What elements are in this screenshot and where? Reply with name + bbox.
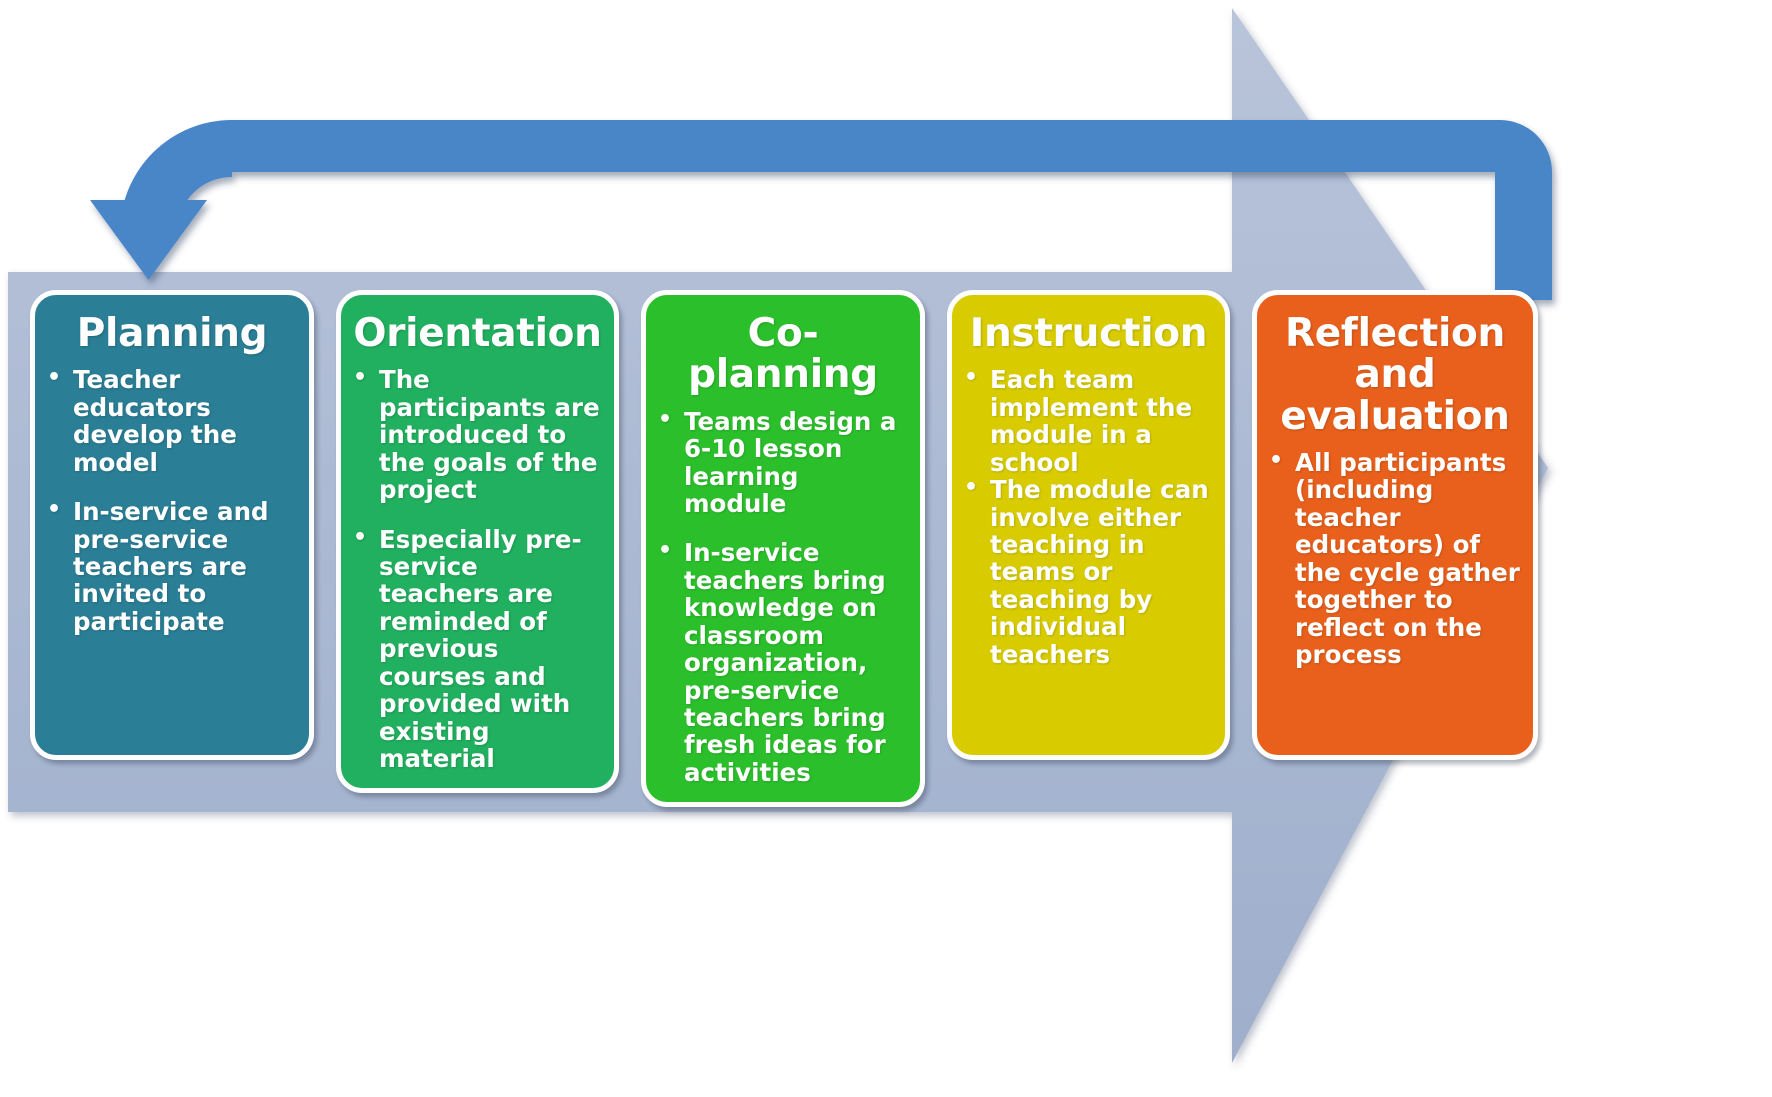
- diagram-canvas: Planning • Teacher educators develop the…: [0, 0, 1772, 1097]
- bullet-dot-icon: •: [658, 408, 684, 518]
- bullet-text: Each team implement the module in a scho…: [990, 366, 1213, 476]
- list-item: • Especially pre-service teachers are re…: [353, 526, 602, 773]
- bullet-text: All participants (including teacher educ…: [1295, 449, 1521, 669]
- stage-title: Co-planning: [658, 313, 908, 396]
- stage-bullet-list: • All participants (including teacher ed…: [1269, 449, 1521, 669]
- bullet-dot-icon: •: [964, 366, 990, 476]
- list-item: • Each team implement the module in a sc…: [964, 366, 1213, 476]
- list-item: • Teacher educators develop the model: [47, 366, 297, 476]
- list-item: • Teams design a 6-10 lesson learning mo…: [658, 408, 908, 518]
- bullet-text: Teams design a 6-10 lesson learning modu…: [684, 408, 908, 518]
- bullet-dot-icon: •: [658, 539, 684, 786]
- bullet-dot-icon: •: [353, 526, 379, 773]
- bullet-text: In-service and pre-service teachers are …: [73, 498, 297, 635]
- stage-bullet-list: • Teacher educators develop the model • …: [47, 366, 297, 635]
- list-item: • In-service and pre-service teachers ar…: [47, 498, 297, 635]
- stage-bullet-list: • Each team implement the module in a sc…: [964, 366, 1213, 668]
- stage-card-row: Planning • Teacher educators develop the…: [30, 290, 1640, 790]
- stage-card-co-planning[interactable]: Co-planning • Teams design a 6-10 lesson…: [641, 290, 925, 807]
- stage-card-instruction[interactable]: Instruction • Each team implement the mo…: [947, 290, 1230, 760]
- stage-bullet-list: • The participants are introduced to the…: [353, 366, 602, 772]
- bullet-dot-icon: •: [47, 366, 73, 476]
- bullet-text: Especially pre-service teachers are remi…: [379, 526, 602, 773]
- stage-title: Reflection and evaluation: [1269, 313, 1521, 437]
- bullet-dot-icon: •: [1269, 449, 1295, 669]
- bullet-text: The participants are introduced to the g…: [379, 366, 602, 503]
- bullet-text: The module can involve either teaching i…: [990, 476, 1213, 668]
- stage-title: Orientation: [353, 313, 602, 354]
- bullet-text: Teacher educators develop the model: [73, 366, 297, 476]
- list-item: • In-service teachers bring knowledge on…: [658, 539, 908, 786]
- bullet-text: In-service teachers bring knowledge on c…: [684, 539, 908, 786]
- list-item: • The module can involve either teaching…: [964, 476, 1213, 668]
- stage-card-reflection-and-evaluation[interactable]: Reflection and evaluation • All particip…: [1252, 290, 1538, 760]
- list-item: • All participants (including teacher ed…: [1269, 449, 1521, 669]
- bullet-dot-icon: •: [353, 366, 379, 503]
- stage-card-orientation[interactable]: Orientation • The participants are intro…: [336, 290, 619, 793]
- bullet-dot-icon: •: [964, 476, 990, 668]
- stage-bullet-list: • Teams design a 6-10 lesson learning mo…: [658, 408, 908, 787]
- list-item: • The participants are introduced to the…: [353, 366, 602, 503]
- stage-title: Planning: [47, 313, 297, 354]
- bullet-dot-icon: •: [47, 498, 73, 635]
- stage-title: Instruction: [964, 313, 1213, 354]
- stage-card-planning[interactable]: Planning • Teacher educators develop the…: [30, 290, 314, 760]
